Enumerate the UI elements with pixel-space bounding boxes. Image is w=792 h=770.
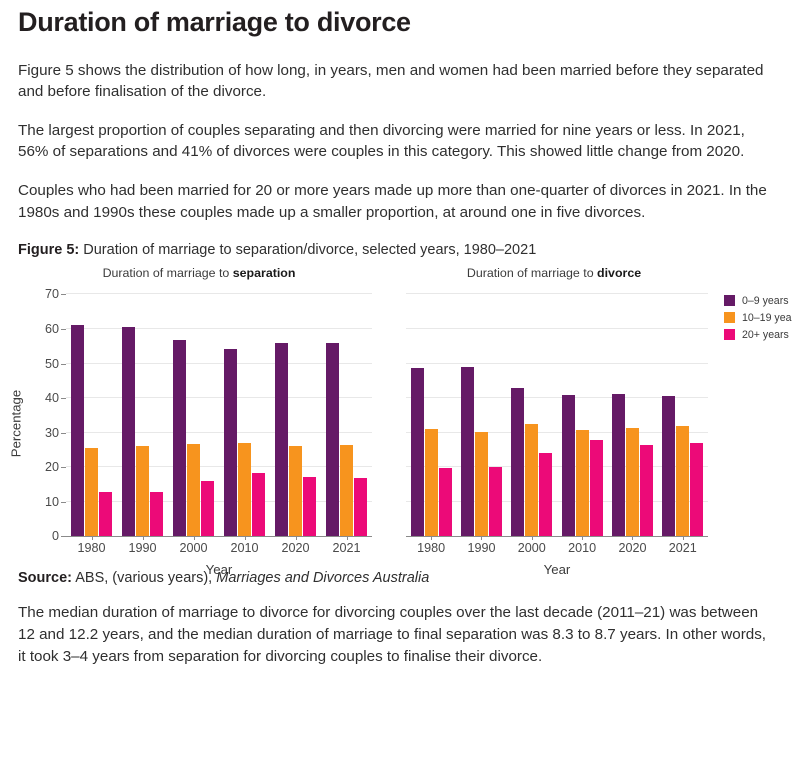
bar-group: 1980 — [66, 294, 117, 536]
body-paragraph-3: Couples who had been married for 20 or m… — [18, 180, 774, 223]
panel-title-prefix: Duration of marriage to — [103, 266, 233, 280]
x-tick-mark — [194, 536, 195, 540]
x-tick-mark — [532, 536, 533, 540]
panel-title-divorce: Duration of marriage to divorce — [394, 266, 714, 280]
source-label: Source: — [18, 570, 72, 586]
bar — [275, 343, 288, 537]
bar — [626, 428, 639, 537]
x-tick-label: 2020 — [270, 541, 321, 555]
x-tick-mark — [632, 536, 633, 540]
body-paragraph-1: Figure 5 shows the distribution of how l… — [18, 60, 774, 103]
bar — [224, 349, 237, 536]
x-tick-mark — [683, 536, 684, 540]
bar-group: 2020 — [270, 294, 321, 536]
legend-swatch-icon — [724, 295, 735, 306]
bar — [252, 473, 265, 536]
article-page: Duration of marriage to divorce Figure 5… — [0, 8, 792, 667]
x-tick-mark — [92, 536, 93, 540]
bar — [562, 395, 575, 536]
x-tick-mark — [481, 536, 482, 540]
x-tick-label: 1990 — [117, 541, 168, 555]
figure-chart: Duration of marriage to separation 01020… — [18, 266, 774, 566]
x-tick-mark — [296, 536, 297, 540]
bar — [340, 445, 353, 537]
bar — [354, 478, 367, 536]
bar — [122, 327, 135, 536]
x-tick-label: 2020 — [607, 541, 657, 555]
panel-title-emphasis: divorce — [597, 266, 641, 280]
bar-group: 1990 — [117, 294, 168, 536]
chart-legend: 0–9 years10–19 years20+ years — [724, 294, 792, 345]
x-axis-label-separation: Year — [66, 562, 372, 577]
bar — [461, 367, 474, 537]
bar — [136, 446, 149, 536]
x-tick-mark — [245, 536, 246, 540]
bar-group: 1990 — [456, 294, 506, 536]
x-tick-label: 1980 — [66, 541, 117, 555]
bar-group: 2010 — [219, 294, 270, 536]
y-tick-label: 30 — [45, 426, 59, 440]
panel-title-separation: Duration of marriage to separation — [18, 266, 380, 280]
bar — [303, 477, 316, 536]
bar — [662, 396, 675, 536]
x-tick-mark — [143, 536, 144, 540]
bar — [85, 448, 98, 537]
bar — [150, 492, 163, 537]
legend-item-label: 20+ years — [742, 329, 789, 341]
bar — [289, 446, 302, 537]
bar — [173, 340, 186, 536]
y-axis-label-separation: Percentage — [9, 390, 24, 457]
x-tick-label: 2021 — [321, 541, 372, 555]
y-tick-label: 70 — [45, 287, 59, 301]
bar — [676, 426, 689, 536]
bar — [99, 492, 112, 536]
x-axis-label-divorce: Year — [406, 562, 708, 577]
plot-area-divorce: 198019902000201020202021 — [406, 294, 708, 537]
body-paragraph-2: The largest proportion of couples separa… — [18, 120, 774, 163]
bar-group: 2020 — [607, 294, 657, 536]
bar — [439, 468, 452, 536]
bar-group: 2021 — [658, 294, 708, 536]
panel-title-emphasis: separation — [233, 266, 296, 280]
legend-item-label: 10–19 years — [742, 312, 792, 324]
x-tick-mark — [347, 536, 348, 540]
x-tick-label: 2021 — [658, 541, 708, 555]
bar — [576, 430, 589, 537]
chart-panel-separation: Duration of marriage to separation 01020… — [18, 266, 380, 566]
bar-group: 1980 — [406, 294, 456, 536]
y-tick-mark — [61, 536, 66, 537]
bar — [411, 368, 424, 537]
bar-groups-divorce: 198019902000201020202021 — [406, 294, 708, 536]
x-tick-mark — [431, 536, 432, 540]
bar — [612, 394, 625, 536]
x-tick-mark — [582, 536, 583, 540]
bar-group: 2021 — [321, 294, 372, 536]
bar — [590, 440, 603, 536]
bar — [539, 453, 552, 536]
bar — [489, 467, 502, 536]
bar-group: 2010 — [557, 294, 607, 536]
bar — [201, 481, 214, 536]
x-tick-label: 2000 — [168, 541, 219, 555]
chart-panel-divorce: Duration of marriage to divorce 19801990… — [394, 266, 714, 566]
legend-swatch-icon — [724, 329, 735, 340]
x-tick-label: 2010 — [557, 541, 607, 555]
bar — [525, 424, 538, 536]
bar-group: 2000 — [507, 294, 557, 536]
figure-caption: Figure 5: Duration of marriage to separa… — [18, 240, 774, 260]
bar — [187, 444, 200, 537]
x-tick-label: 2010 — [219, 541, 270, 555]
bar — [238, 443, 251, 536]
bar — [425, 429, 438, 536]
y-tick-label: 20 — [45, 460, 59, 474]
page-title: Duration of marriage to divorce — [18, 8, 774, 38]
closing-paragraph: The median duration of marriage to divor… — [18, 602, 774, 667]
bar — [690, 443, 703, 536]
x-tick-label: 2000 — [507, 541, 557, 555]
y-tick-label: 60 — [45, 322, 59, 336]
legend-item-label: 0–9 years — [742, 295, 789, 307]
bar — [326, 343, 339, 537]
x-tick-label: 1980 — [406, 541, 456, 555]
y-tick-label: 10 — [45, 495, 59, 509]
legend-swatch-icon — [724, 312, 735, 323]
legend-item[interactable]: 20+ years — [724, 328, 792, 341]
bar-groups-separation: 198019902000201020202021 — [66, 294, 372, 536]
legend-item[interactable]: 10–19 years — [724, 311, 792, 324]
bar — [71, 325, 84, 537]
plot-area-separation: 010203040506070 198019902000201020202021 — [66, 294, 372, 537]
y-tick-label: 0 — [52, 529, 59, 543]
bar-group: 2000 — [168, 294, 219, 536]
legend-item[interactable]: 0–9 years — [724, 294, 792, 307]
panel-title-prefix: Duration of marriage to — [467, 266, 597, 280]
bar — [475, 432, 488, 536]
y-tick-label: 50 — [45, 357, 59, 371]
y-tick-label: 40 — [45, 391, 59, 405]
figure-caption-label: Figure 5: — [18, 242, 79, 258]
x-tick-label: 1990 — [456, 541, 506, 555]
bar — [640, 445, 653, 537]
figure-caption-text: Duration of marriage to separation/divor… — [79, 242, 536, 258]
bar — [511, 388, 524, 537]
